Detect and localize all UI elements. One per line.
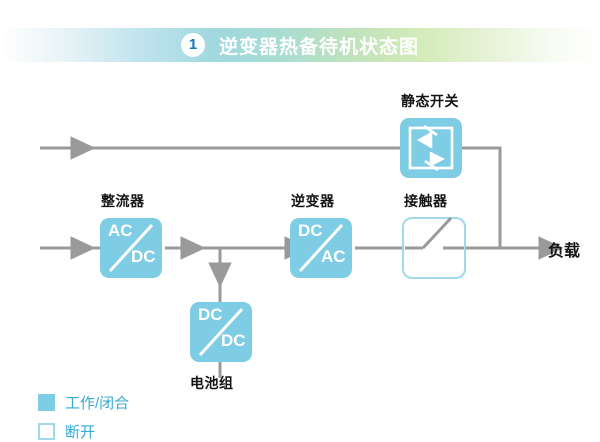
step-number-badge: 1	[181, 33, 205, 57]
label-rectifier: 整流器	[101, 191, 145, 211]
bypass-output-wire	[462, 148, 500, 248]
legend-item-working: 工作/闭合	[38, 392, 129, 413]
label-contactor: 接触器	[404, 191, 448, 211]
diagram-svg	[0, 62, 600, 428]
header: 1 逆变器热备待机状态图	[0, 28, 600, 62]
rectifier-text-top: AC	[108, 221, 133, 241]
rectifier-text-bottom: DC	[131, 247, 156, 267]
legend: 工作/闭合 断开	[38, 392, 129, 442]
label-static-switch: 静态开关	[401, 91, 459, 111]
battery-text-bottom: DC	[221, 331, 246, 351]
legend-swatch-hollow	[38, 423, 55, 440]
legend-item-open: 断开	[38, 421, 129, 442]
legend-swatch-filled	[38, 394, 55, 411]
block-static-switch[interactable]	[400, 118, 462, 178]
inverter-text-top: DC	[298, 221, 323, 241]
legend-label-working: 工作/闭合	[65, 392, 129, 413]
label-load: 负载	[548, 237, 580, 261]
label-inverter: 逆变器	[291, 191, 335, 211]
label-battery: 电池组	[190, 373, 234, 393]
diagram-canvas: 静态开关 整流器 逆变器 接触器 电池组 AC DC DC AC DC DC 负…	[0, 62, 600, 428]
block-contactor[interactable]	[403, 218, 465, 278]
page-title: 逆变器热备待机状态图	[219, 32, 419, 59]
inverter-text-bottom: AC	[321, 247, 346, 267]
battery-text-top: DC	[198, 305, 223, 325]
legend-label-open: 断开	[65, 421, 95, 442]
